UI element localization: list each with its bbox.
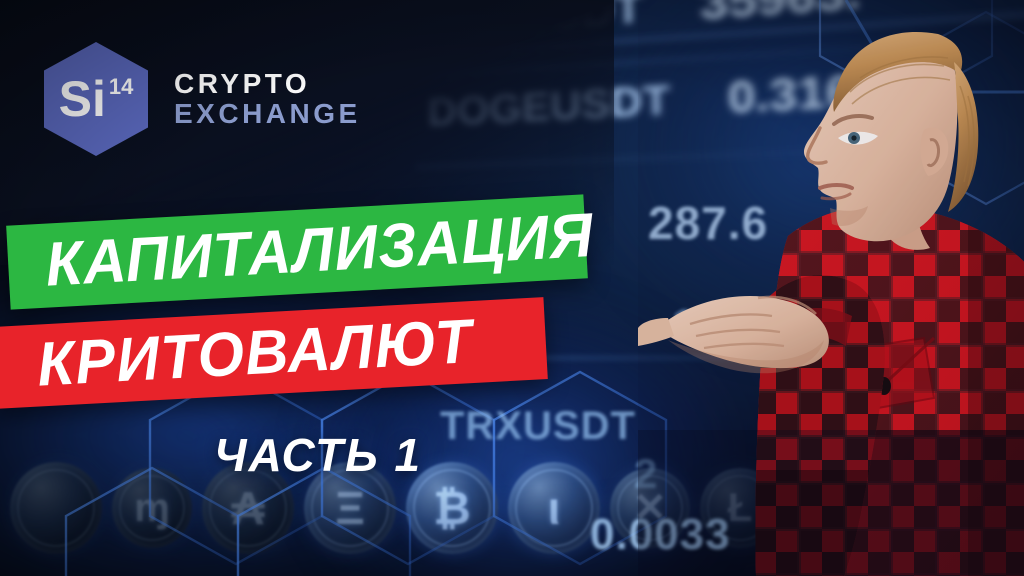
foreground-symbol-trx: TRXUSDT: [440, 404, 636, 449]
brand-logo[interactable]: Si 14 CRYPTO EXCHANGE: [44, 42, 361, 156]
logo-symbol: Si: [59, 74, 106, 124]
coin-glyph: [10, 462, 102, 554]
brand-wordmark: CRYPTO EXCHANGE: [174, 69, 361, 129]
presenter-photo: [638, 0, 1024, 576]
brand-line-exchange: EXCHANGE: [174, 99, 361, 129]
coin-monero: ɱ: [112, 468, 192, 548]
hexagon-logo-mark: Si 14: [44, 42, 148, 156]
thumbnail-canvas: 34700.30 34659.30 0.20 0.18 1.02 BTCUSDT…: [0, 0, 1024, 576]
part-label: ЧАСТЬ 1: [214, 428, 422, 482]
logo-atomic-number: 14: [109, 74, 133, 100]
coin-glyph: ɱ: [112, 468, 192, 548]
coin-iota: ι: [508, 462, 600, 554]
hexagon-logo-icon: Si 14: [44, 42, 148, 156]
coin-generic-1: [10, 462, 102, 554]
brand-line-crypto: CRYPTO: [174, 69, 361, 99]
headline-text-red: КРИТОВАЛЮТ: [36, 311, 475, 396]
coin-glyph: ι: [508, 462, 600, 554]
